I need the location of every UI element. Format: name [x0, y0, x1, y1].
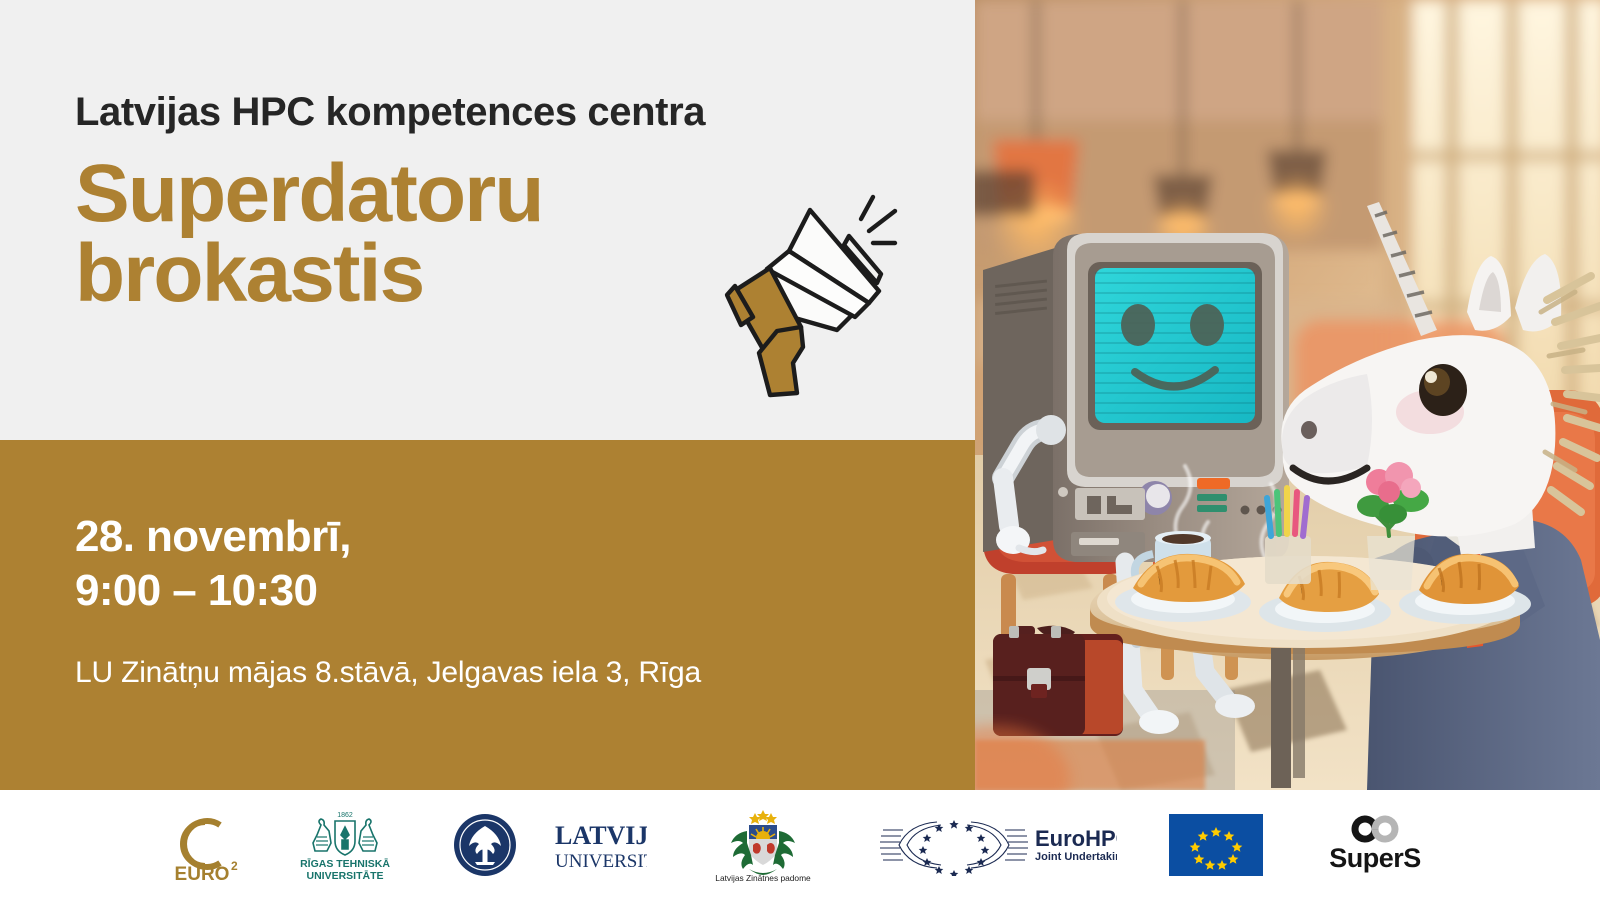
eyebrow-text: Latvijas HPC kompetences centra — [75, 92, 775, 132]
infinity-icon — [1355, 819, 1395, 839]
supers-wordmark: SuperS — [1329, 843, 1421, 873]
rtu-line2: UNIVERSITĀTE — [306, 870, 383, 882]
lu-line2: UNIVERSITĀTE — [555, 851, 647, 872]
cafe-illustration-photo — [975, 0, 1600, 790]
eurohpc-logo: EuroHPC Joint Undertaking — [879, 805, 1117, 885]
eurohpc-emblem — [880, 822, 1028, 868]
euro2-wordmark: EURO — [175, 864, 230, 882]
croissant-plates — [1115, 554, 1531, 632]
sponsor-logo-bar: EURO 2 1862 — [0, 790, 1600, 900]
headline-block: Latvijas HPC kompetences centra Superdat… — [75, 92, 775, 315]
event-datetime: 28. novembrī, 9:00 – 10:30 — [75, 510, 351, 617]
supers-logo: SuperS — [1315, 805, 1435, 885]
lu-logo: LATVIJAS UNIVERSITĀTE — [451, 805, 647, 885]
megaphone-icon — [697, 183, 912, 398]
eurohpc-subtitle: Joint Undertaking — [1035, 851, 1117, 863]
lu-line1: LATVIJAS — [555, 821, 647, 850]
eurohpc-stars — [919, 820, 990, 876]
rtu-crest-year: 1862 — [337, 812, 353, 819]
leather-briefcase — [993, 626, 1123, 736]
latvian-coat-of-arms — [731, 810, 795, 875]
event-date: 28. novembrī, — [75, 510, 351, 564]
event-time: 9:00 – 10:30 — [75, 564, 351, 618]
euro2-superscript: 2 — [231, 859, 238, 873]
eu-flag — [1169, 805, 1263, 885]
title-line-1: Superdatoru — [75, 154, 775, 234]
rtu-line1: RĪGAS TEHNISKĀ — [300, 858, 390, 870]
euro2-logo: EURO 2 — [165, 805, 239, 885]
cafe-scene-svg — [975, 0, 1600, 790]
rtu-logo: 1862 RĪGAS TEHNISKĀ UNIVERSITĀTE — [291, 805, 399, 885]
eurohpc-wordmark: EuroHPC — [1035, 826, 1117, 851]
event-venue: LU Zinātņu mājas 8.stāvā, Jelgavas iela … — [75, 656, 701, 690]
sound-lines — [861, 197, 895, 243]
event-banner: Latvijas HPC kompetences centra Superdat… — [0, 0, 1600, 900]
page-title: Superdatoru brokastis — [75, 154, 775, 315]
lzp-logo: Latvijas Zinātnes padome — [699, 805, 827, 885]
title-line-2: brokastis — [75, 234, 775, 314]
lzp-caption: Latvijas Zinātnes padome — [715, 873, 811, 883]
